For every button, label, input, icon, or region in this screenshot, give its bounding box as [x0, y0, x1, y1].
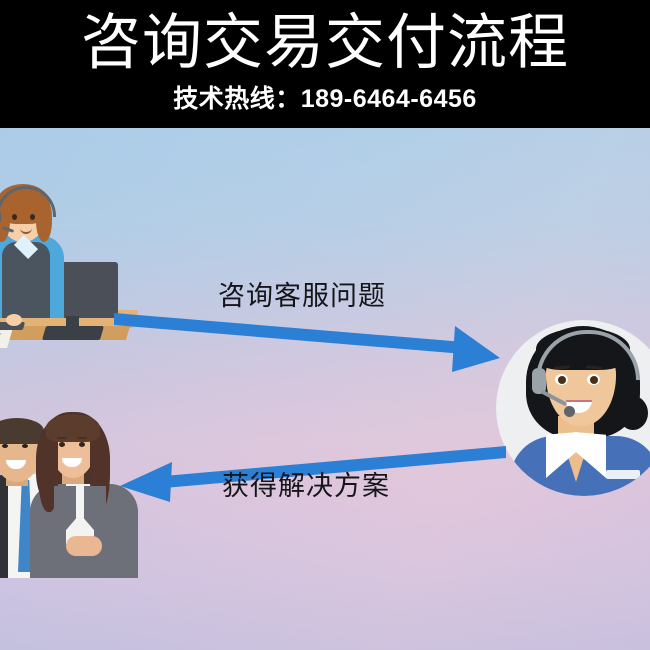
illustration-stage: 咨询客服问题 获得解决方案 [0, 128, 650, 650]
businesswoman-hair-top [46, 414, 100, 442]
agent-hair-bun [618, 396, 648, 430]
businesswoman-figure [24, 406, 144, 578]
flow-poster: 咨询交易交付流程 技术热线：189-6464-6456 [0, 0, 650, 650]
businesswoman-brow-left [57, 437, 67, 439]
agent-name-badge [606, 470, 640, 479]
operator-at-desk-illustration [0, 182, 156, 382]
support-agent-illustration [496, 320, 650, 520]
monitor-stand-base [42, 326, 104, 340]
flow-label-request: 咨询客服问题 [218, 280, 386, 312]
businesswoman-hands [66, 536, 102, 556]
agent-microphone-tip [564, 406, 575, 417]
arrow-request [114, 313, 500, 372]
headset-icon [0, 186, 56, 217]
businessman-eye-left [2, 444, 8, 448]
business-clients-illustration [0, 406, 167, 578]
businesswoman-brow-right [77, 437, 87, 439]
agent-circle-badge [496, 320, 650, 496]
businesswoman-eye-left [59, 442, 65, 447]
hotline-subtitle: 技术热线：189-6464-6456 [0, 84, 650, 114]
header-band: 咨询交易交付流程 技术热线：189-6464-6456 [0, 0, 650, 128]
flow-label-solution: 获得解决方案 [222, 470, 390, 502]
operator-hand [6, 314, 22, 326]
page-title: 咨询交易交付流程 [0, 6, 650, 80]
businesswoman-eye-right [79, 442, 85, 447]
